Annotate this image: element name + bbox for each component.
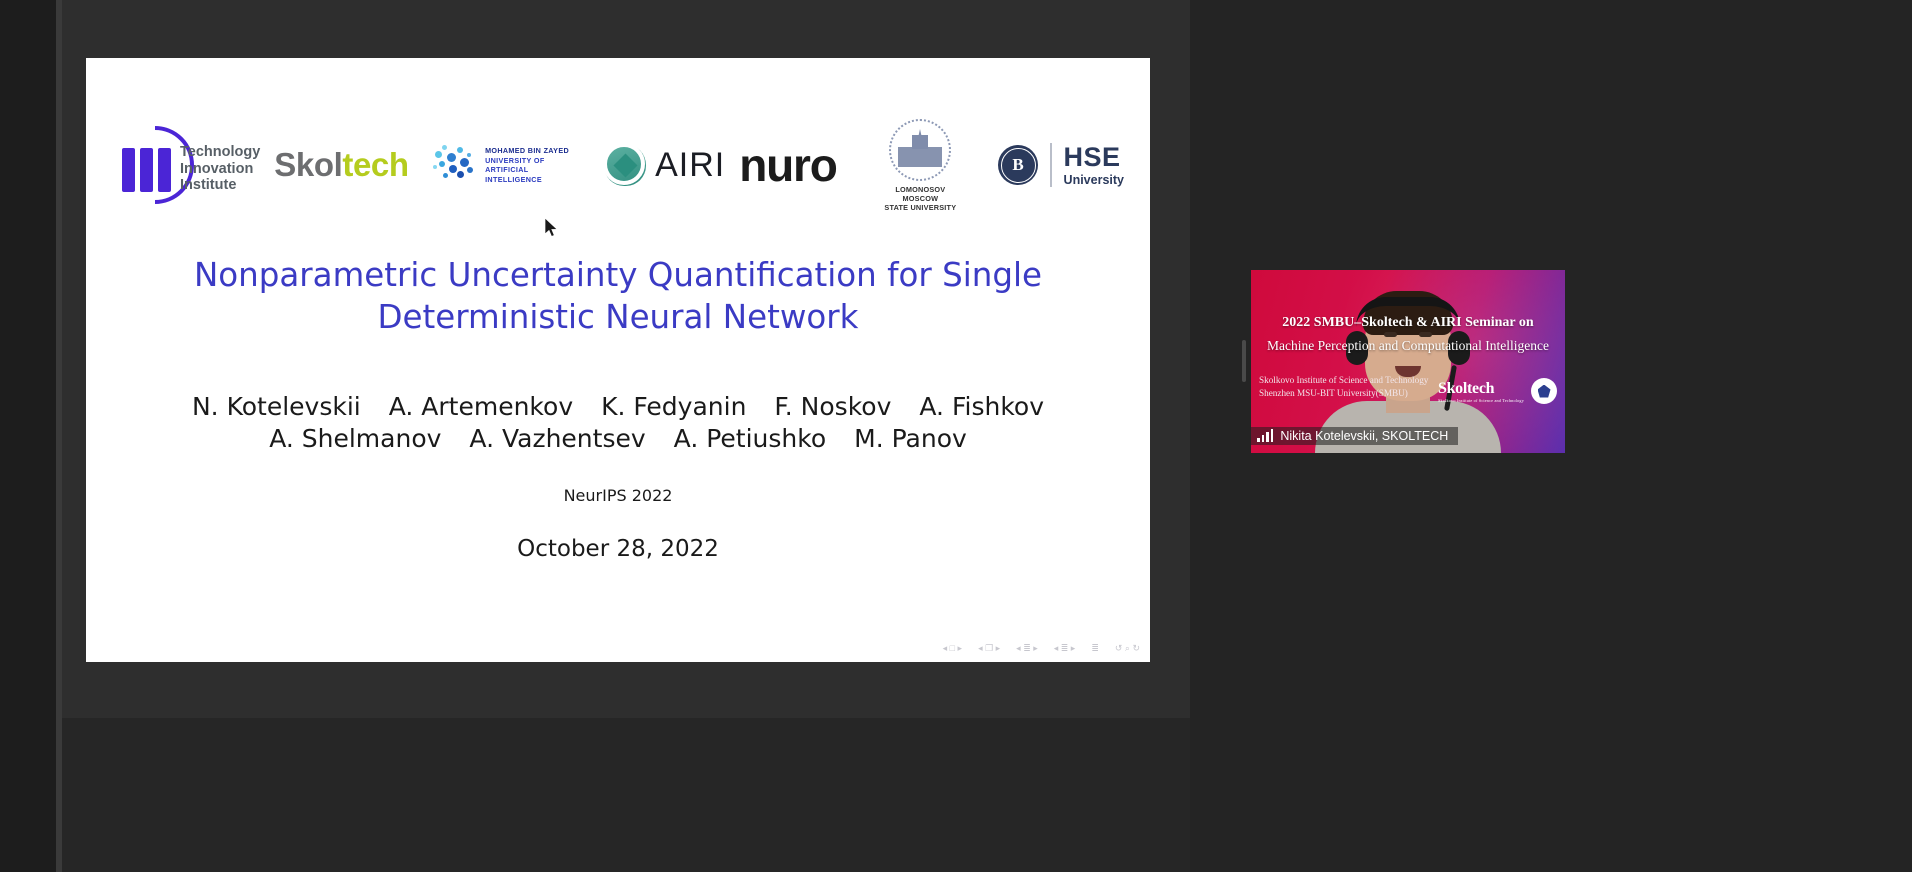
skoltech-logo-part1: Skol xyxy=(274,146,342,184)
hse-sub: University xyxy=(1064,174,1124,187)
banner-organizations: Skolkovo Institute of Science and Techno… xyxy=(1259,374,1428,399)
msu-emblem-icon xyxy=(889,119,951,181)
hse-logo-text: HSE University xyxy=(1064,144,1124,187)
msu-logo-text: LOMONOSOV MOSCOW STATE UNIVERSITY xyxy=(879,185,962,212)
mbzuai-dots-icon xyxy=(433,141,478,189)
nav-group[interactable]: ◂ □ ▸ xyxy=(943,643,962,654)
author-row-2: A. ShelmanovA. VazhentsevA. PetiushkoM. … xyxy=(146,423,1090,455)
nav-group[interactable]: ◂ ≣ ▸ xyxy=(1054,643,1076,654)
hse-logo: B HSE University xyxy=(998,143,1124,187)
video-panel-drag-handle[interactable] xyxy=(1242,340,1246,382)
slide-title: Nonparametric Uncertainty Quantification… xyxy=(150,254,1086,338)
logo-row: Technology Innovation Institute Skoltech xyxy=(86,110,1150,220)
author-name: A. Vazhentsev xyxy=(469,423,645,455)
mouse-pointer-icon xyxy=(545,218,559,238)
airi-logo: AIRI xyxy=(604,144,725,186)
mbzuai-logo-text: MOHAMED BIN ZAYED UNIVERSITY OF ARTIFICI… xyxy=(485,146,582,184)
nav-group[interactable]: ◂ ❐ ▸ xyxy=(978,643,1000,654)
skoltech-logo-part2: tech xyxy=(342,146,408,184)
skoltech-logo: Skoltech xyxy=(274,146,408,184)
mbzuai-line-2: UNIVERSITY OF xyxy=(485,156,582,166)
msu-line-1: LOMONOSOV MOSCOW xyxy=(879,185,962,203)
airi-diamond-icon xyxy=(604,144,646,186)
msu-logo: LOMONOSOV MOSCOW STATE UNIVERSITY xyxy=(879,119,962,212)
slide: Technology Innovation Institute Skoltech xyxy=(86,58,1150,662)
banner-title: 2022 SMBU–Skoltech & AIRI Seminar on xyxy=(1251,315,1565,331)
author-row-1: N. KotelevskiiA. ArtemenkovK. FedyaninF.… xyxy=(146,391,1090,423)
banner-skoltech-subtext: Skolkovo Institute of Science and Techno… xyxy=(1438,398,1524,403)
nav-group[interactable]: ≣ xyxy=(1091,643,1099,654)
signal-bars-icon xyxy=(1257,430,1273,442)
webcam-video-panel[interactable]: 2022 SMBU–Skoltech & AIRI Seminar on Mac… xyxy=(1251,270,1565,453)
tii-line-1: Technology xyxy=(180,144,260,161)
author-name: K. Fedyanin xyxy=(601,391,746,423)
author-name: A. Artemenkov xyxy=(389,391,573,423)
tii-line-2: Innovation xyxy=(180,161,260,178)
author-name: A. Petiushko xyxy=(674,423,826,455)
skoltech-seal-icon xyxy=(1531,378,1557,404)
airi-logo-text: AIRI xyxy=(655,146,725,185)
tii-logo: Technology Innovation Institute xyxy=(112,122,254,208)
left-gutter xyxy=(0,0,56,872)
tii-line-3: Institute xyxy=(180,177,260,194)
author-name: F. Noskov xyxy=(774,391,891,423)
nuro-logo: nuro xyxy=(739,138,836,192)
hse-divider xyxy=(1050,143,1052,187)
author-list: N. KotelevskiiA. ArtemenkovK. FedyaninF.… xyxy=(146,391,1090,455)
beamer-navigation-bar[interactable]: ◂ □ ▸ ◂ ❐ ▸ ◂ ≣ ▸ ◂ ≣ ▸ ≣ ↺ ⌕ ↻ xyxy=(943,643,1140,654)
screen-share-view: Technology Innovation Institute Skoltech xyxy=(0,0,1912,872)
author-name: M. Panov xyxy=(854,423,967,455)
banner-subtitle: Machine Perception and Computational Int… xyxy=(1251,338,1565,354)
banner-org-line-2: Shenzhen MSU-BIT University(SMBU) xyxy=(1259,387,1428,400)
nav-group[interactable]: ◂ ≣ ▸ xyxy=(1016,643,1038,654)
author-name: A. Fishkov xyxy=(919,391,1044,423)
stage-bottom-area xyxy=(62,718,1190,872)
nav-group[interactable]: ↺ ⌕ ↻ xyxy=(1115,643,1140,654)
speaker-name-label: Nikita Kotelevskii, SKOLTECH xyxy=(1280,429,1448,443)
banner-skoltech-name: Skoltech Skolkovo Institute of Science a… xyxy=(1438,380,1524,403)
author-name: N. Kotelevskii xyxy=(192,391,361,423)
venue-label: NeurIPS 2022 xyxy=(86,486,1150,505)
speaker-nameplate: Nikita Kotelevskii, SKOLTECH xyxy=(1251,427,1458,445)
mbzuai-line-3: ARTIFICIAL INTELLIGENCE xyxy=(485,165,582,184)
mbzuai-line-1: MOHAMED BIN ZAYED xyxy=(485,146,582,156)
banner-skoltech-logo: Skoltech Skolkovo Institute of Science a… xyxy=(1438,378,1557,404)
hse-name: HSE xyxy=(1064,144,1124,171)
tii-mark-icon xyxy=(122,148,171,192)
date-label: October 28, 2022 xyxy=(86,536,1150,562)
msu-line-2: STATE UNIVERSITY xyxy=(879,203,962,212)
banner-org-line-1: Skolkovo Institute of Science and Techno… xyxy=(1259,374,1428,387)
hse-seal-icon: B xyxy=(998,145,1038,185)
tii-logo-text: Technology Innovation Institute xyxy=(180,144,260,194)
mbzuai-logo: MOHAMED BIN ZAYED UNIVERSITY OF ARTIFICI… xyxy=(433,141,582,189)
author-name: A. Shelmanov xyxy=(269,423,441,455)
